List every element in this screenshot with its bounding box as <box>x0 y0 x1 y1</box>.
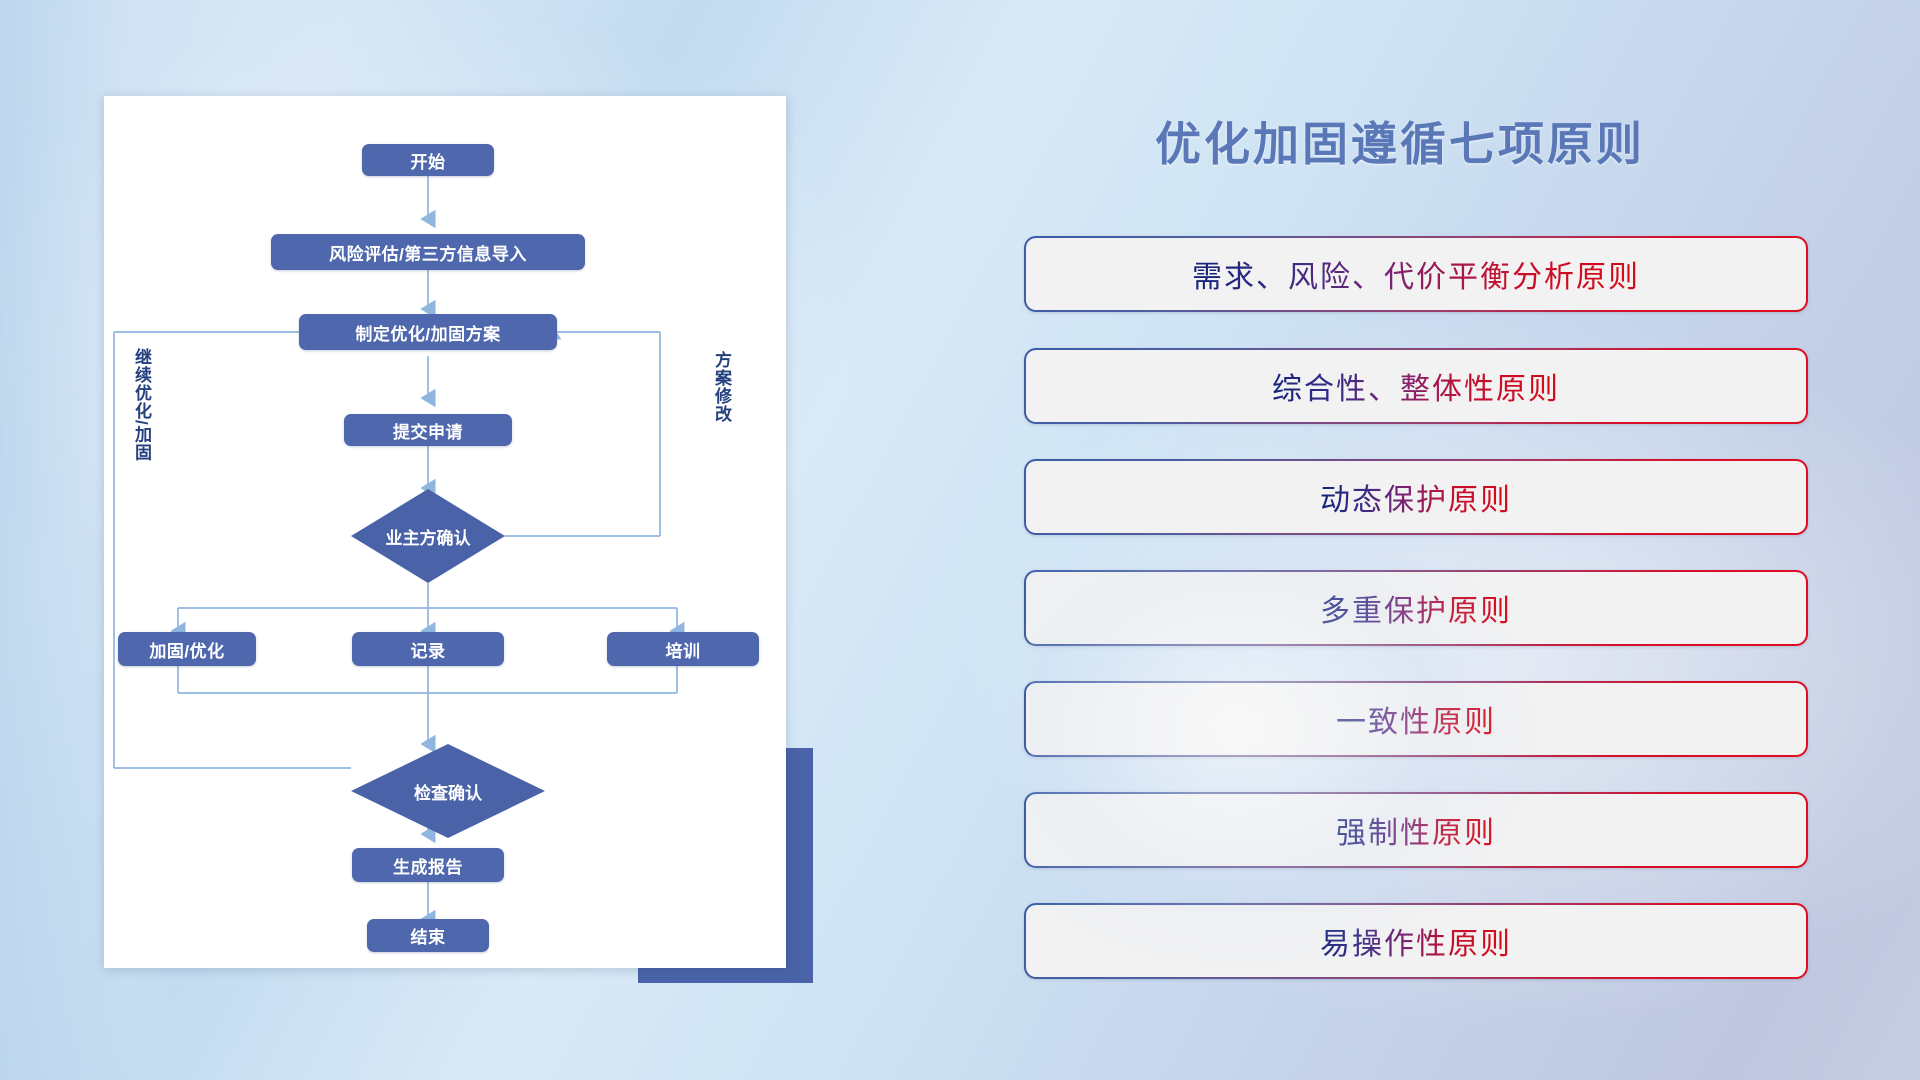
flowchart-card: 开始 风险评估/第三方信息导入 制定优化/加固方案 提交申请 业主方确认 加固/… <box>104 96 786 968</box>
flow-node-start[interactable]: 开始 <box>362 144 494 176</box>
principle-label: 需求、风险、代价平衡分析原则 <box>1192 252 1640 296</box>
flow-node-label: 业主方确认 <box>386 524 471 549</box>
flow-node-label: 检查确认 <box>414 779 482 804</box>
flow-node-label: 生成报告 <box>393 853 463 878</box>
flow-node-label: 提交申请 <box>393 418 463 443</box>
page-title: 优化加固遵循七项原则 <box>1020 108 1780 174</box>
flow-node-label: 记录 <box>411 637 446 662</box>
flow-node-label: 风险评估/第三方信息导入 <box>329 240 527 265</box>
flow-node-label: 开始 <box>411 148 446 173</box>
flow-node-label: 制定优化/加固方案 <box>355 320 500 345</box>
principle-item-2[interactable]: 综合性、整体性原则 <box>1024 348 1808 424</box>
principle-item-7[interactable]: 易操作性原则 <box>1024 903 1808 979</box>
principle-item-5[interactable]: 一致性原则 <box>1024 681 1808 757</box>
principle-item-3[interactable]: 动态保护原则 <box>1024 459 1808 535</box>
principle-label: 动态保护原则 <box>1320 475 1512 519</box>
flow-node-submit-application[interactable]: 提交申请 <box>344 414 512 446</box>
principle-label: 多重保护原则 <box>1320 586 1512 630</box>
principle-label: 强制性原则 <box>1336 808 1496 852</box>
flow-node-label: 加固/优化 <box>149 637 224 662</box>
flow-node-plan[interactable]: 制定优化/加固方案 <box>299 314 557 350</box>
flow-node-risk-assessment[interactable]: 风险评估/第三方信息导入 <box>271 234 585 270</box>
principle-label: 综合性、整体性原则 <box>1272 364 1560 408</box>
principle-item-6[interactable]: 强制性原则 <box>1024 792 1808 868</box>
flow-node-training[interactable]: 培训 <box>607 632 759 666</box>
flow-node-reinforce[interactable]: 加固/优化 <box>118 632 256 666</box>
principle-item-4[interactable]: 多重保护原则 <box>1024 570 1808 646</box>
flow-node-end[interactable]: 结束 <box>367 919 489 952</box>
principle-label: 易操作性原则 <box>1320 919 1512 963</box>
edge-label-plan-revision: 方案修改 <box>712 351 731 486</box>
flow-decision-inspection-confirm[interactable]: 检查确认 <box>351 744 545 838</box>
slide-root: 开始 风险评估/第三方信息导入 制定优化/加固方案 提交申请 业主方确认 加固/… <box>0 0 1920 1080</box>
edge-label-continue-optimize: 继续优化/加固 <box>132 348 151 528</box>
principle-item-1[interactable]: 需求、风险、代价平衡分析原则 <box>1024 236 1808 312</box>
flow-node-label: 结束 <box>411 923 446 948</box>
principle-label: 一致性原则 <box>1336 697 1496 741</box>
flow-node-generate-report[interactable]: 生成报告 <box>352 848 504 882</box>
flow-decision-owner-confirm[interactable]: 业主方确认 <box>351 489 505 583</box>
flow-node-label: 培训 <box>666 637 701 662</box>
flow-node-record[interactable]: 记录 <box>352 632 504 666</box>
